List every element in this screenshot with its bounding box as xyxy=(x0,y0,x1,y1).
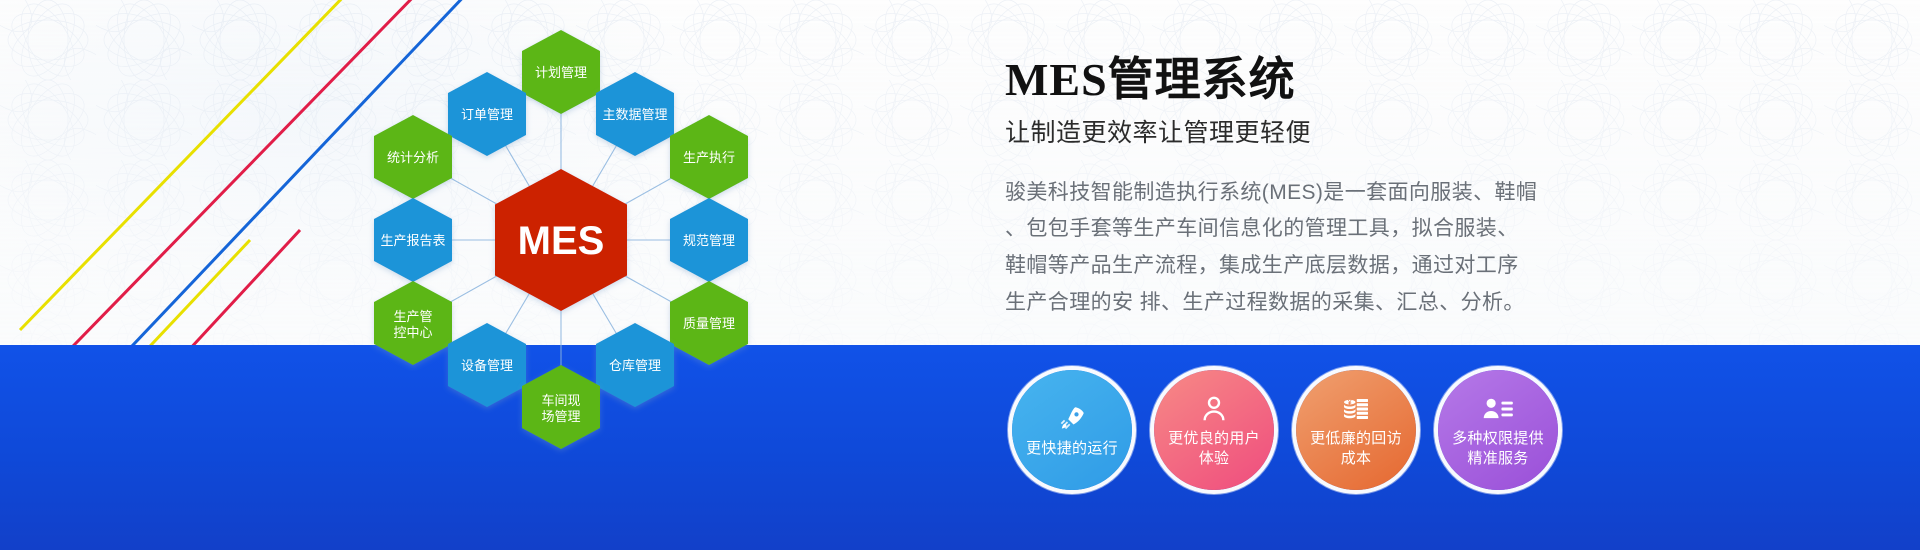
hero-text-column: MES管理系统 让制造更效率让管理更轻便 骏美科技智能制造执行系统(MES)是一… xyxy=(1005,55,1905,322)
page-subtitle: 让制造更效率让管理更轻便 xyxy=(1005,113,1905,149)
user-icon xyxy=(1199,392,1229,426)
rocket-icon xyxy=(1057,402,1087,436)
hex-node-label: 仓库管理 xyxy=(609,358,661,373)
hex-node[interactable]: 规范管理 xyxy=(670,198,748,282)
hex-node[interactable]: 仓库管理 xyxy=(596,323,674,407)
feature-badge-label: 更快捷的运行 xyxy=(1018,439,1126,459)
hex-node-label: 统计分析 xyxy=(387,150,439,165)
hex-node-label: 计划管理 xyxy=(535,65,587,80)
hex-node-label: 主数据管理 xyxy=(602,107,667,122)
description-line: 、包包手套等生产车间信息化的管理工具，拟合服装、 xyxy=(1005,211,1565,248)
hex-node[interactable]: 订单管理 xyxy=(448,72,526,156)
hex-node-label: 质量管理 xyxy=(683,316,735,331)
hex-diagram-svg: 计划管理订单管理主数据管理统计分析生产执行生产报告表规范管理生产管控中心质量管理… xyxy=(300,0,820,460)
hex-node[interactable]: 主数据管理 xyxy=(596,72,674,156)
hex-node[interactable]: 生产报告表 xyxy=(374,198,452,282)
page-title: MES管理系统 xyxy=(1005,55,1905,105)
mes-hex-diagram: 计划管理订单管理主数据管理统计分析生产执行生产报告表规范管理生产管控中心质量管理… xyxy=(300,0,820,460)
feature-badge[interactable]: ¥更低廉的回访成本 xyxy=(1296,370,1416,490)
feature-badge-label: 更低廉的回访成本 xyxy=(1296,429,1416,468)
coins-icon: ¥ xyxy=(1341,392,1371,426)
description-line: 骏美科技智能制造执行系统(MES)是一套面向服装、鞋帽 xyxy=(1005,175,1565,212)
feature-badge[interactable]: 更优良的用户体验 xyxy=(1154,370,1274,490)
hex-node-label: 设备管理 xyxy=(461,358,513,373)
description-line: 鞋帽等产品生产流程，集成生产底层数据，通过对工序 xyxy=(1005,248,1565,285)
hex-center-node[interactable]: MES xyxy=(495,169,627,311)
description-line: 生产合理的安 排、生产过程数据的采集、汇总、分析。 xyxy=(1005,285,1565,322)
hex-center-label: MES xyxy=(518,219,605,263)
user-list-icon xyxy=(1482,392,1514,426)
feature-badge-label: 更优良的用户体验 xyxy=(1154,429,1274,468)
hero-description: 骏美科技智能制造执行系统(MES)是一套面向服装、鞋帽、包包手套等生产车间信息化… xyxy=(1005,175,1565,322)
hex-node[interactable]: 生产执行 xyxy=(670,115,748,199)
hex-node-label: 订单管理 xyxy=(461,107,513,122)
feature-badge-list: 更快捷的运行更优良的用户体验¥更低廉的回访成本多种权限提供精准服务 xyxy=(1012,370,1558,490)
hex-node[interactable]: 计划管理 xyxy=(522,30,600,114)
svg-text:¥: ¥ xyxy=(1348,399,1352,406)
hex-node[interactable]: 生产管控中心 xyxy=(374,281,452,365)
feature-badge[interactable]: 更快捷的运行 xyxy=(1012,370,1132,490)
hex-node-label: 车间现场管理 xyxy=(541,393,580,424)
mes-hero-banner: 计划管理订单管理主数据管理统计分析生产执行生产报告表规范管理生产管控中心质量管理… xyxy=(0,0,1920,550)
hex-node-label: 生产管控中心 xyxy=(393,309,432,340)
hex-node-label: 规范管理 xyxy=(683,233,735,248)
hex-node[interactable]: 统计分析 xyxy=(374,115,452,199)
hex-node[interactable]: 质量管理 xyxy=(670,281,748,365)
background-blue-band xyxy=(0,345,1920,550)
hex-node[interactable]: 车间现场管理 xyxy=(522,365,600,449)
feature-badge-label: 多种权限提供精准服务 xyxy=(1438,429,1558,468)
hex-node-label: 生产执行 xyxy=(683,150,735,165)
feature-badge[interactable]: 多种权限提供精准服务 xyxy=(1438,370,1558,490)
hex-node[interactable]: 设备管理 xyxy=(448,323,526,407)
hex-node-label: 生产报告表 xyxy=(380,233,445,248)
